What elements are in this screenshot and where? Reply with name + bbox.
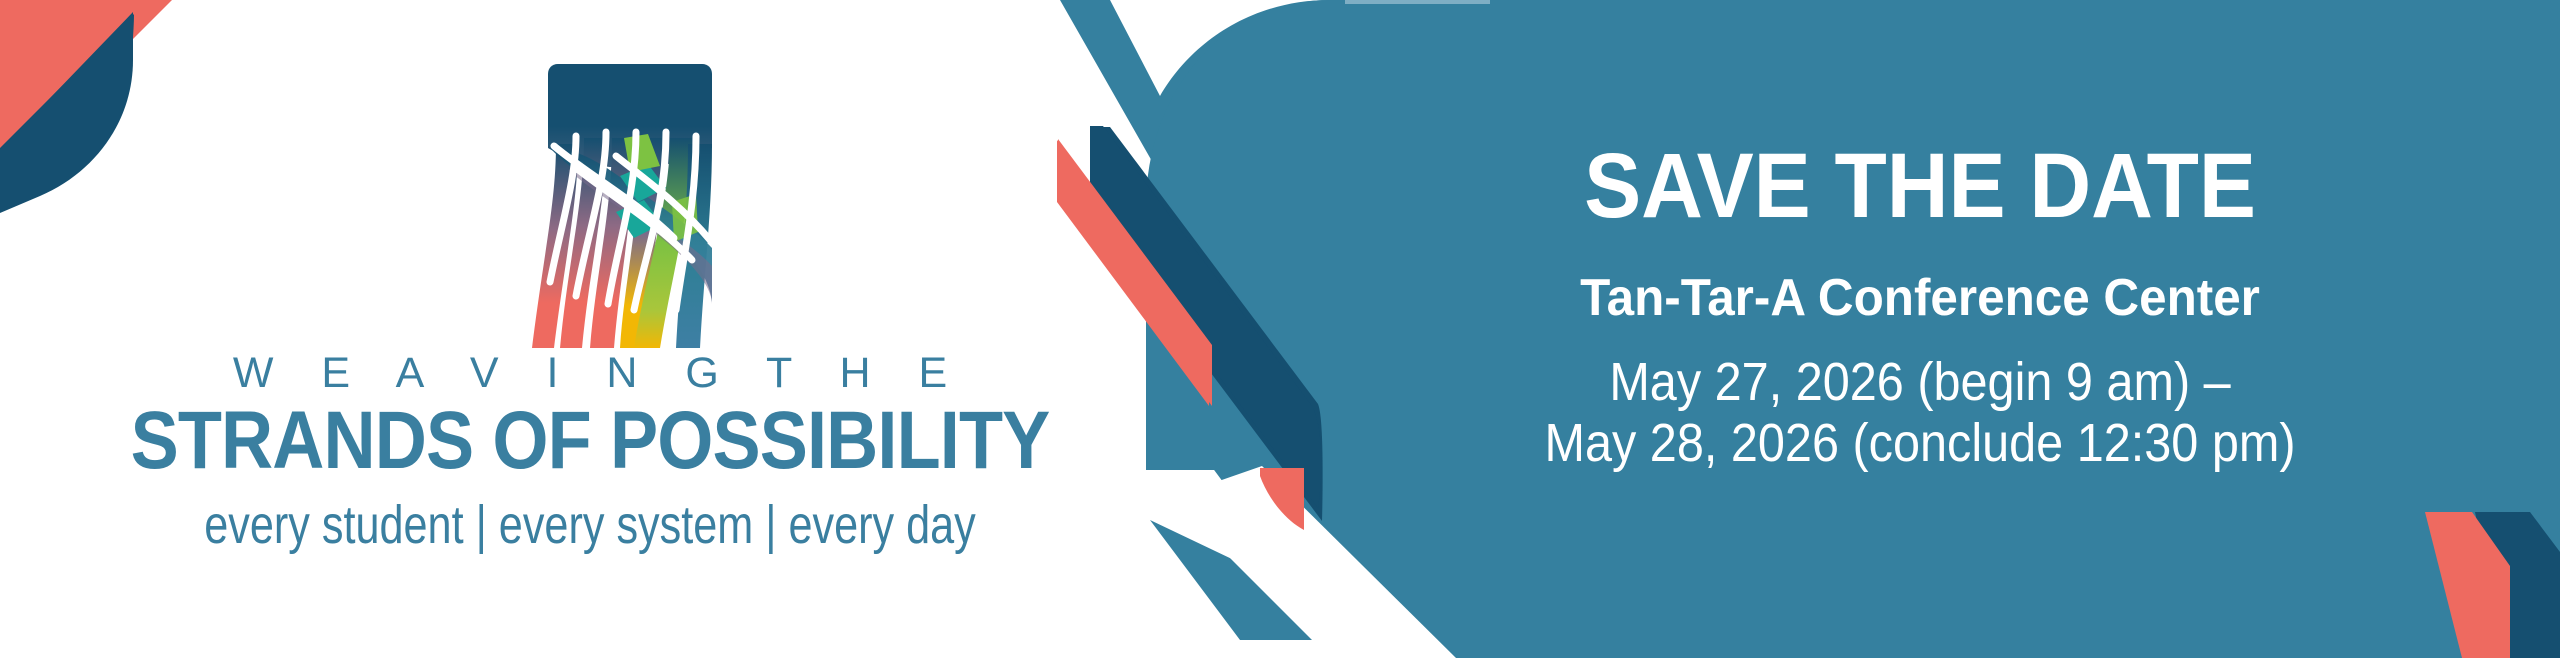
save-the-date-headline: SAVE THE DATE [1455,140,2385,232]
weaving-strands-logo [520,52,740,352]
save-the-date-banner: W E A V I N G T H E STRANDS OF POSSIBILI… [0,0,2560,658]
brand-eyebrow: W E A V I N G T H E [0,352,1180,395]
event-dates: May 27, 2026 (begin 9 am) – May 28, 2026… [1470,352,2370,474]
brand-block: W E A V I N G T H E STRANDS OF POSSIBILI… [0,0,1180,658]
brand-title: STRANDS OF POSSIBILITY [71,398,1109,484]
venue-name: Tan-Tar-A Conference Center [1445,272,2395,324]
event-date-line-1: May 27, 2026 (begin 9 am) – [1470,352,2370,413]
brand-tagline: every student | every system | every day [118,496,1062,555]
event-details-block: SAVE THE DATE Tan-Tar-A Conference Cente… [1420,0,2420,658]
event-date-line-2: May 28, 2026 (conclude 12:30 pm) [1470,413,2370,474]
